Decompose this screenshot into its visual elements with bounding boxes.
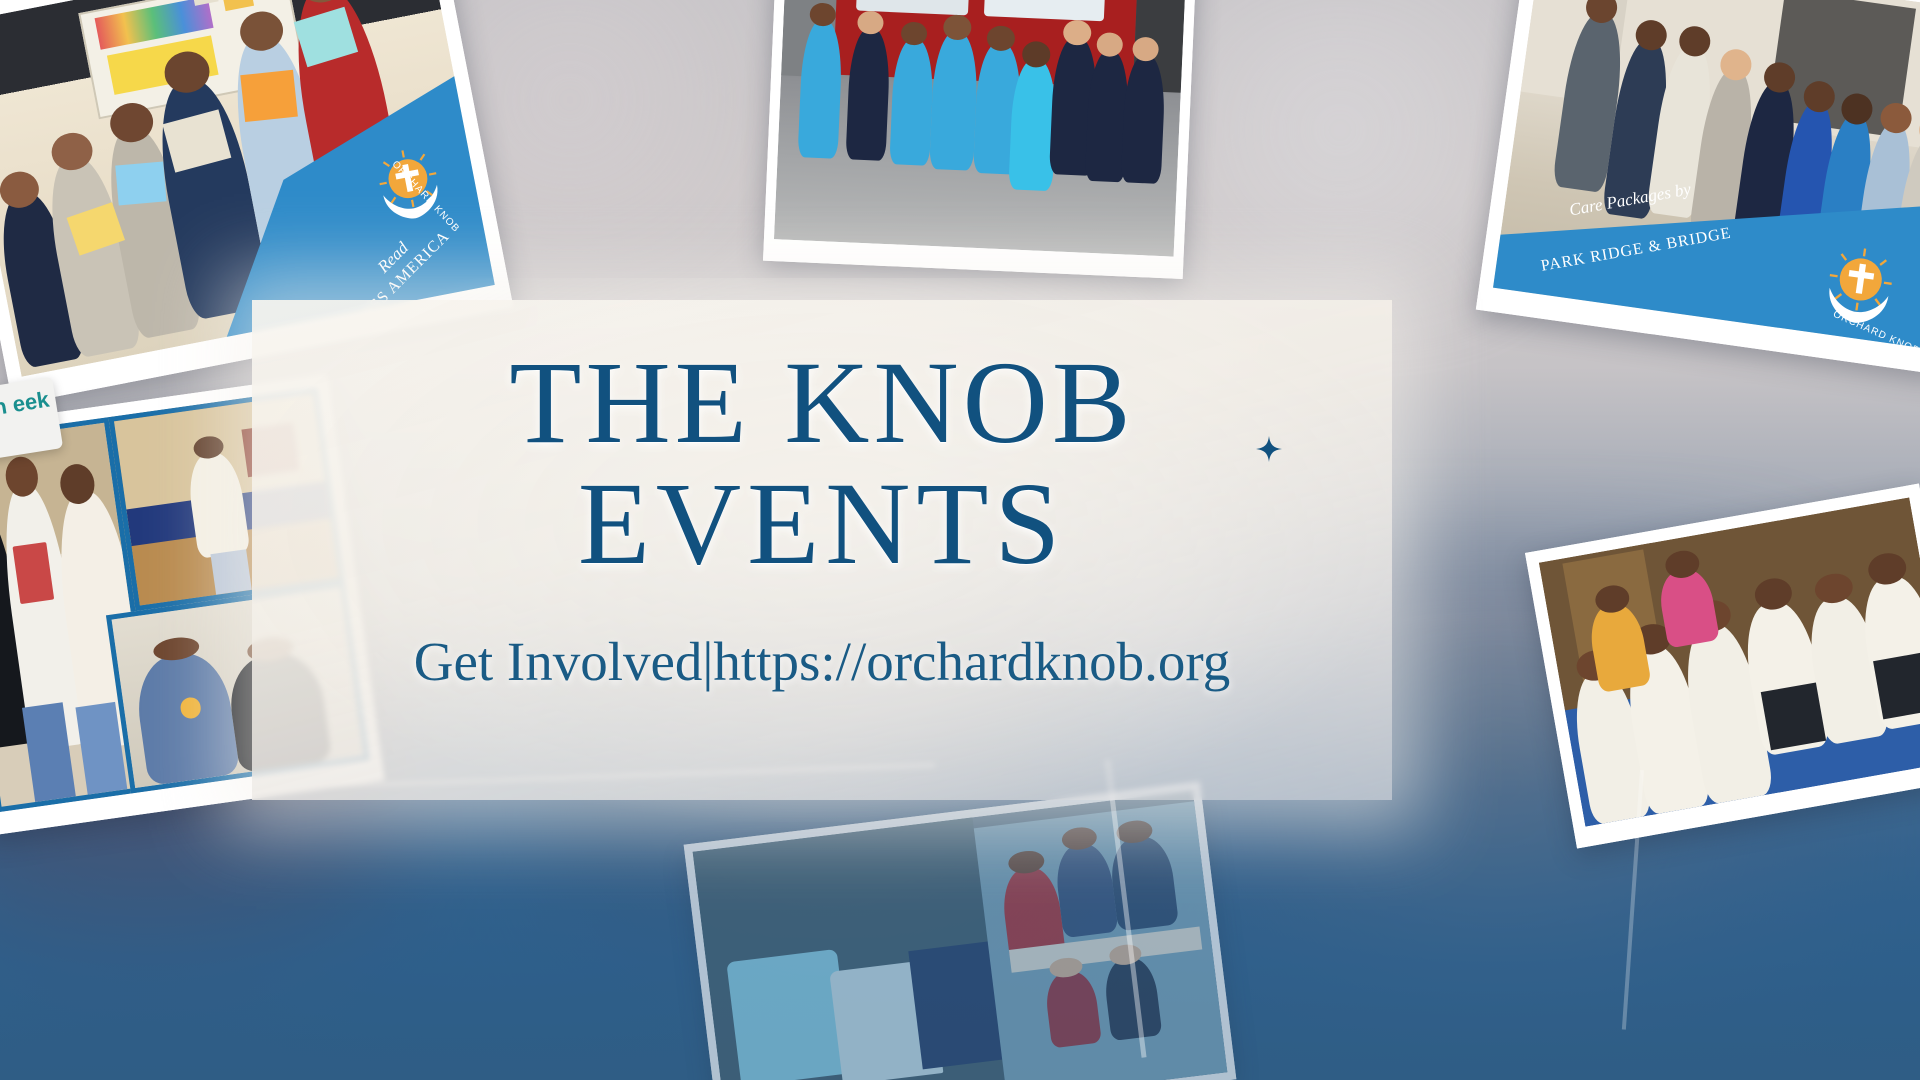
photo-badge-th-eek: th eek [0,377,63,460]
hero-text-panel: THE KNOB EVENTS Get Involved|https://orc… [252,300,1392,800]
title-line-2: EVENTS [252,469,1392,580]
four-point-star-icon [1256,436,1282,462]
scene-school-gym [1539,497,1920,826]
photo-care-packages: Care Packages by PARK RIDGE & BRIDGE ORC… [1476,0,1920,375]
title-line-1: THE KNOB [252,348,1392,459]
photo-fire-station-volunteers [763,0,1197,279]
get-involved-link[interactable]: Get Involved|https://orchardknob.org [252,630,1392,693]
hero-banner: Read ACROSS AMERICA ORCHARD KNOB [0,0,1920,1080]
orchard-knob-logo-2 [1816,242,1904,330]
page-title: THE KNOB EVENTS [252,348,1392,580]
photo-badge-text: th eek [0,377,57,421]
scene-fire-station [774,0,1187,257]
scene-gift-room [693,790,1228,1080]
photo-students-group [1525,484,1920,849]
